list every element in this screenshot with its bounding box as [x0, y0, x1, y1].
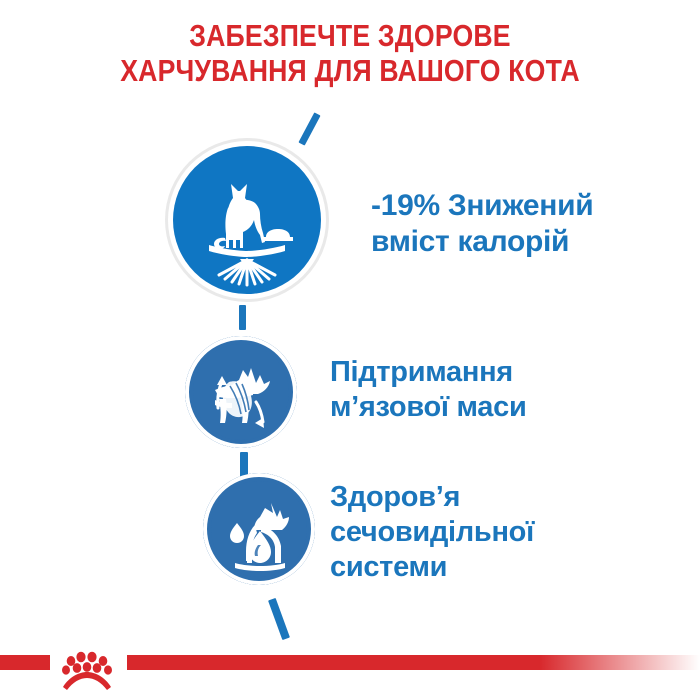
benefit-label-calories: -19% Знижений вміст калорій — [371, 188, 593, 260]
page-title: ЗАБЕЗПЕЧТЕ ЗДОРОВЕ ХАРЧУВАННЯ ДЛЯ ВАШОГО… — [49, 18, 651, 88]
connector-dash-1-2 — [239, 305, 246, 330]
benefit-label-urinary: Здоров’я сечовидільної системи — [330, 480, 534, 585]
benefit-icon-calories — [173, 146, 321, 294]
connector-dash-top — [298, 112, 320, 145]
connector-dash-bottom — [268, 598, 290, 640]
benefit-icon-muscle — [185, 336, 297, 448]
footer-bar-left — [0, 655, 50, 670]
footer-brand-bar — [0, 648, 700, 700]
benefit-label-muscle: Підтримання м’язової маси — [330, 355, 526, 425]
royal-canin-crown-logo — [48, 641, 128, 693]
footer-bar-right — [127, 655, 700, 670]
benefit-icon-urinary — [203, 473, 315, 585]
